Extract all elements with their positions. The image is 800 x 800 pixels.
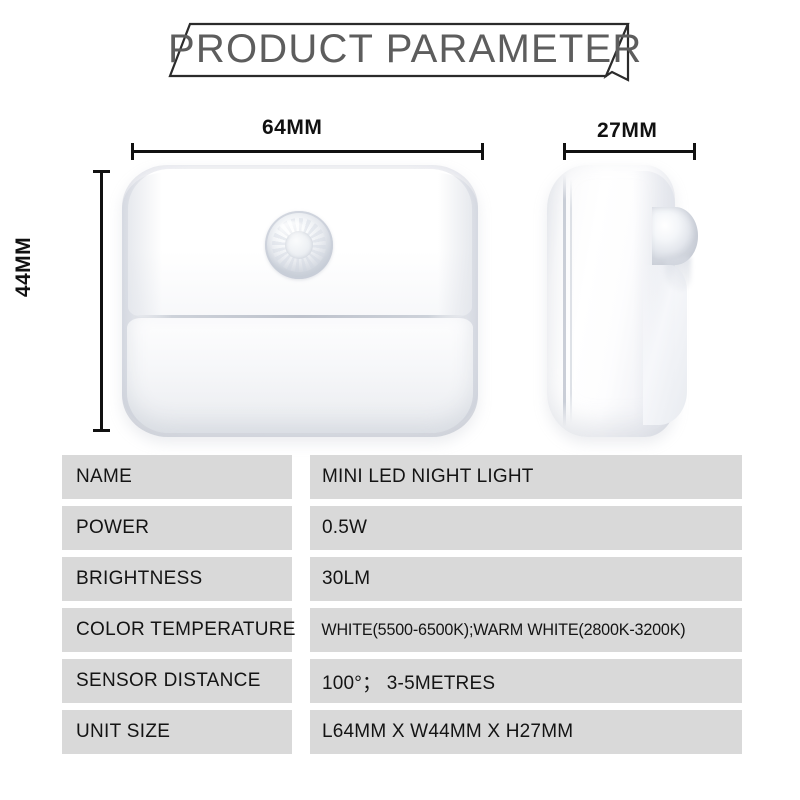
night-light-front-view — [122, 165, 478, 437]
dimension-label-depth: 27MM — [597, 119, 657, 143]
dimension-label-width: 64MM — [262, 116, 322, 140]
side-backplate-seam-secondary — [570, 179, 572, 423]
param-label-cell: SENSOR DISTANCE — [62, 659, 292, 703]
table-row: UNIT SIZE L64MM X W44MM X H27MM — [0, 710, 800, 754]
dimension-line-depth — [563, 150, 696, 153]
dimension-line-width — [131, 150, 484, 153]
night-light-side-view — [547, 165, 707, 437]
param-label: UNIT SIZE — [62, 721, 170, 743]
param-value: 30LM — [310, 568, 370, 590]
param-label: POWER — [62, 517, 149, 539]
param-value: 0.5W — [310, 517, 367, 539]
param-label-cell: NAME — [62, 455, 292, 499]
param-value-cell: L64MM X W44MM X H27MM — [310, 710, 742, 754]
param-value-cell: 100°； 3-5METRES — [310, 659, 742, 703]
pir-motion-sensor-icon — [265, 211, 333, 279]
param-value: L64MM X W44MM X H27MM — [310, 721, 573, 743]
page-title-banner: PRODUCT PARAMETER — [168, 22, 630, 78]
table-row: POWER 0.5W — [0, 506, 800, 550]
param-value-cell: 0.5W — [310, 506, 742, 550]
param-value: 100°； 3-5METRES — [310, 668, 495, 695]
param-label-cell: COLOR TEMPERATURE — [62, 608, 292, 652]
table-row: BRIGHTNESS 30LM — [0, 557, 800, 601]
product-parameter-table: NAME MINI LED NIGHT LIGHT POWER 0.5W BRI… — [0, 455, 800, 761]
param-label-cell: UNIT SIZE — [62, 710, 292, 754]
dimension-label-height: 44MM — [12, 237, 36, 297]
param-value-cell: 30LM — [310, 557, 742, 601]
side-backplate-seam — [563, 175, 566, 427]
table-row: COLOR TEMPERATURE WHITE(5500-6500K);WARM… — [0, 608, 800, 652]
param-label-cell: BRIGHTNESS — [62, 557, 292, 601]
front-light-diffuser — [127, 318, 473, 433]
param-label: COLOR TEMPERATURE — [62, 619, 296, 641]
param-value-cell: MINI LED NIGHT LIGHT — [310, 455, 742, 499]
param-value-cell: WHITE(5500-6500K);WARM WHITE(2800K-3200K… — [310, 608, 742, 652]
pir-sensor-highlight — [279, 221, 305, 237]
table-row: SENSOR DISTANCE 100°； 3-5METRES — [0, 659, 800, 703]
param-label: SENSOR DISTANCE — [62, 670, 261, 692]
param-value: WHITE(5500-6500K);WARM WHITE(2800K-3200K… — [310, 620, 685, 640]
param-value: MINI LED NIGHT LIGHT — [310, 466, 534, 488]
param-label: BRIGHTNESS — [62, 568, 203, 590]
param-label-cell: POWER — [62, 506, 292, 550]
product-figure: 64MM 27MM 44MM — [0, 100, 800, 445]
page-title: PRODUCT PARAMETER — [168, 22, 630, 76]
dimension-line-height — [100, 170, 103, 432]
table-row: NAME MINI LED NIGHT LIGHT — [0, 455, 800, 499]
param-label: NAME — [62, 466, 132, 488]
